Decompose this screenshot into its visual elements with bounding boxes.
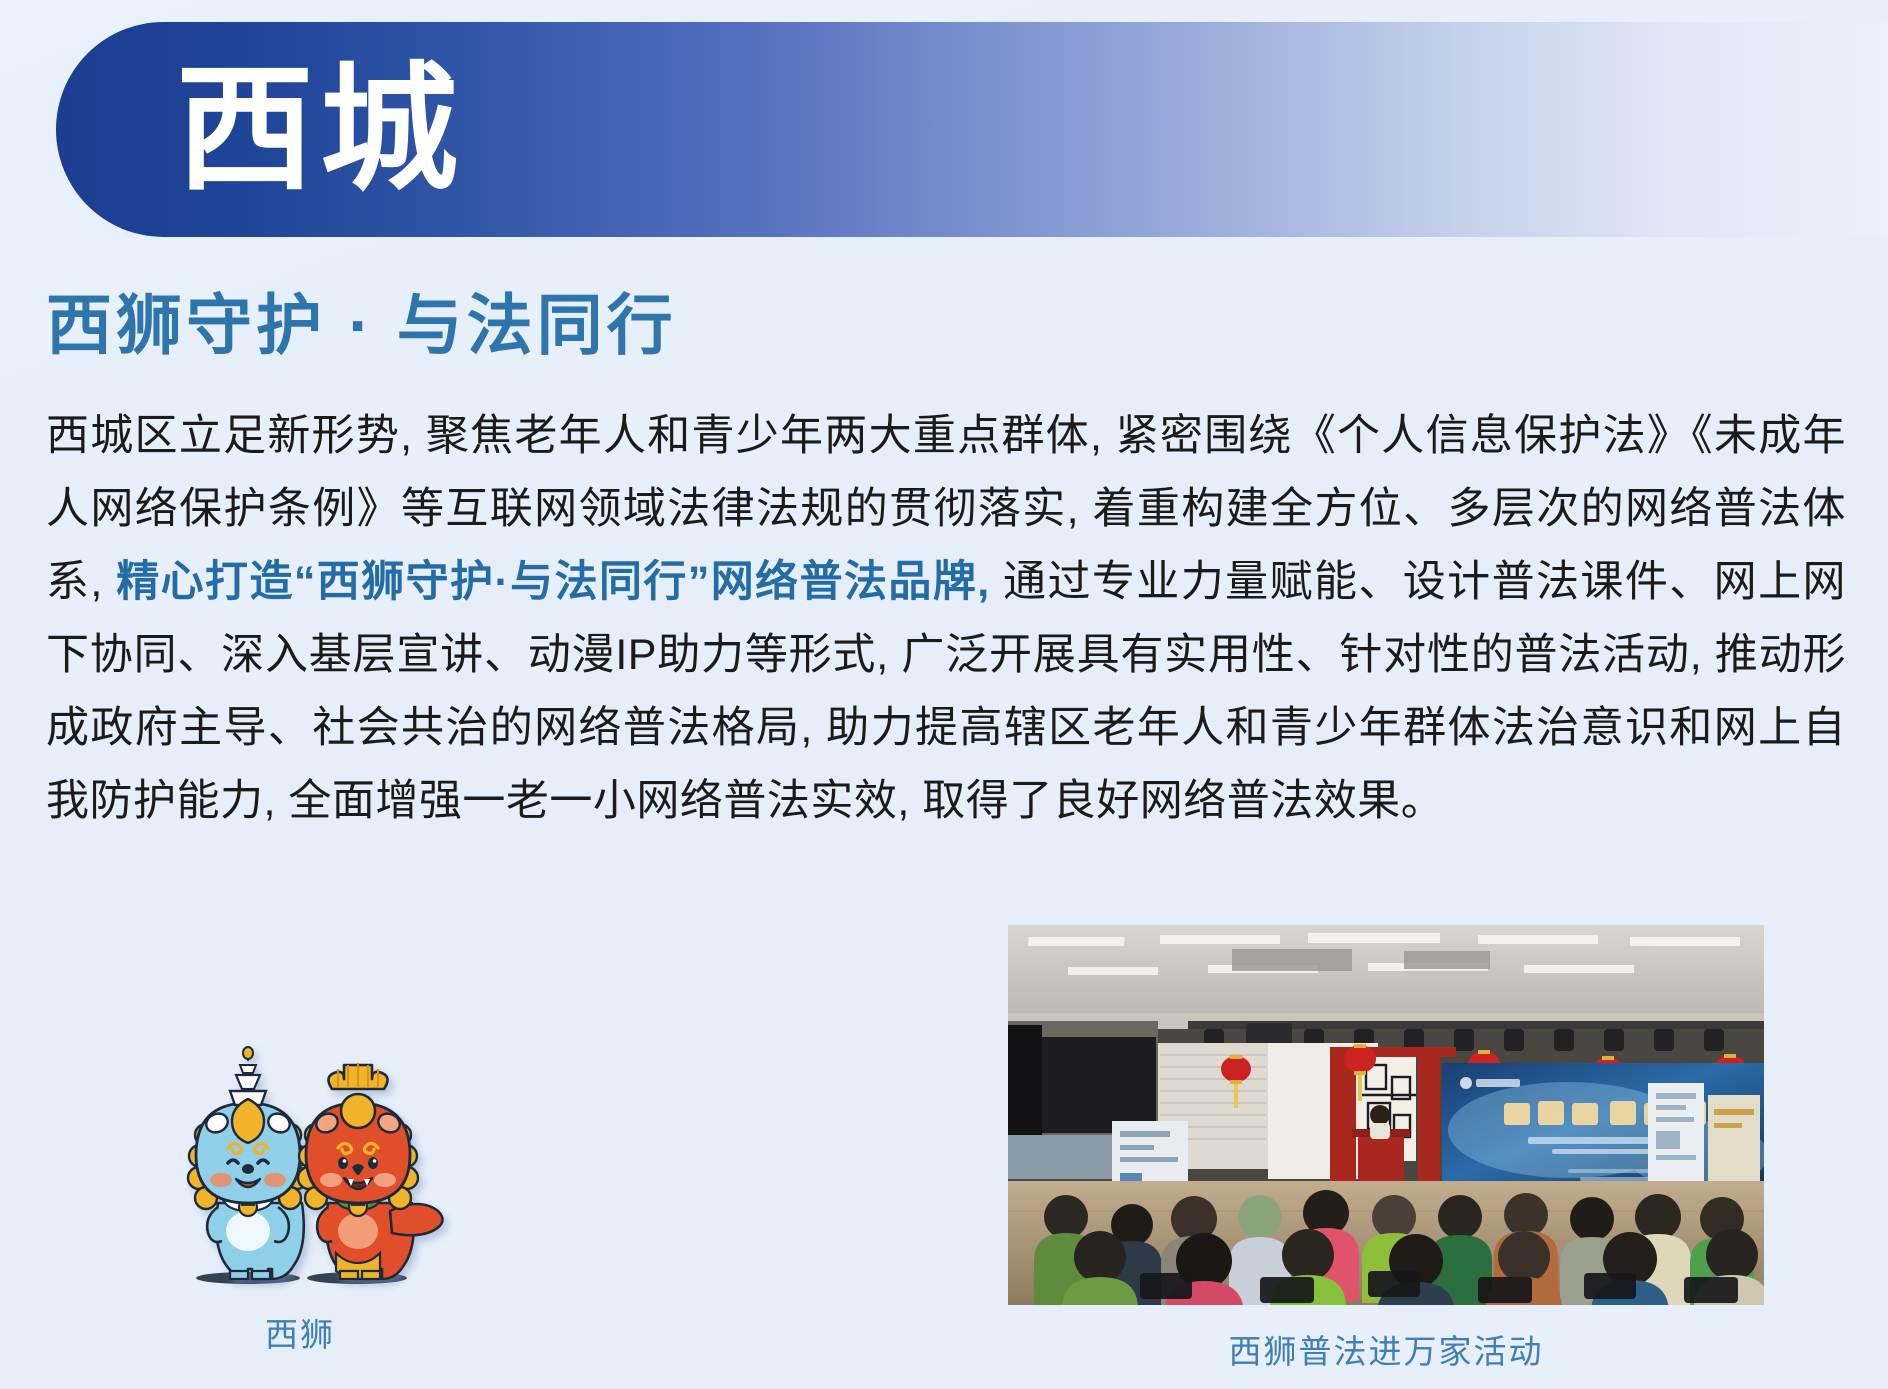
mascot-lions-icon	[100, 1035, 500, 1305]
poster-page: 西城 西狮守护 · 与法同行 西城区立足新形势, 聚焦老年人和青少年两大重点群体…	[0, 0, 1888, 1389]
banner-title: 西城	[176, 61, 464, 199]
mascot-illustration	[100, 1035, 500, 1305]
mascot-caption: 西狮	[100, 1308, 500, 1356]
photo-caption: 西狮普法进万家活动	[1008, 1325, 1764, 1373]
header-banner: 西城	[56, 22, 1888, 237]
section-title: 西狮守护 · 与法同行	[46, 288, 677, 364]
event-photo	[1008, 925, 1764, 1305]
body-paragraph: 西城区立足新形势, 聚焦老年人和青少年两大重点群体, 紧密围绕《个人信息保护法》…	[46, 400, 1846, 838]
body-text-highlight: 精心打造“西狮守护·与法同行”网络普法品牌,	[116, 558, 989, 606]
lecture-hall-photo	[1008, 925, 1764, 1305]
